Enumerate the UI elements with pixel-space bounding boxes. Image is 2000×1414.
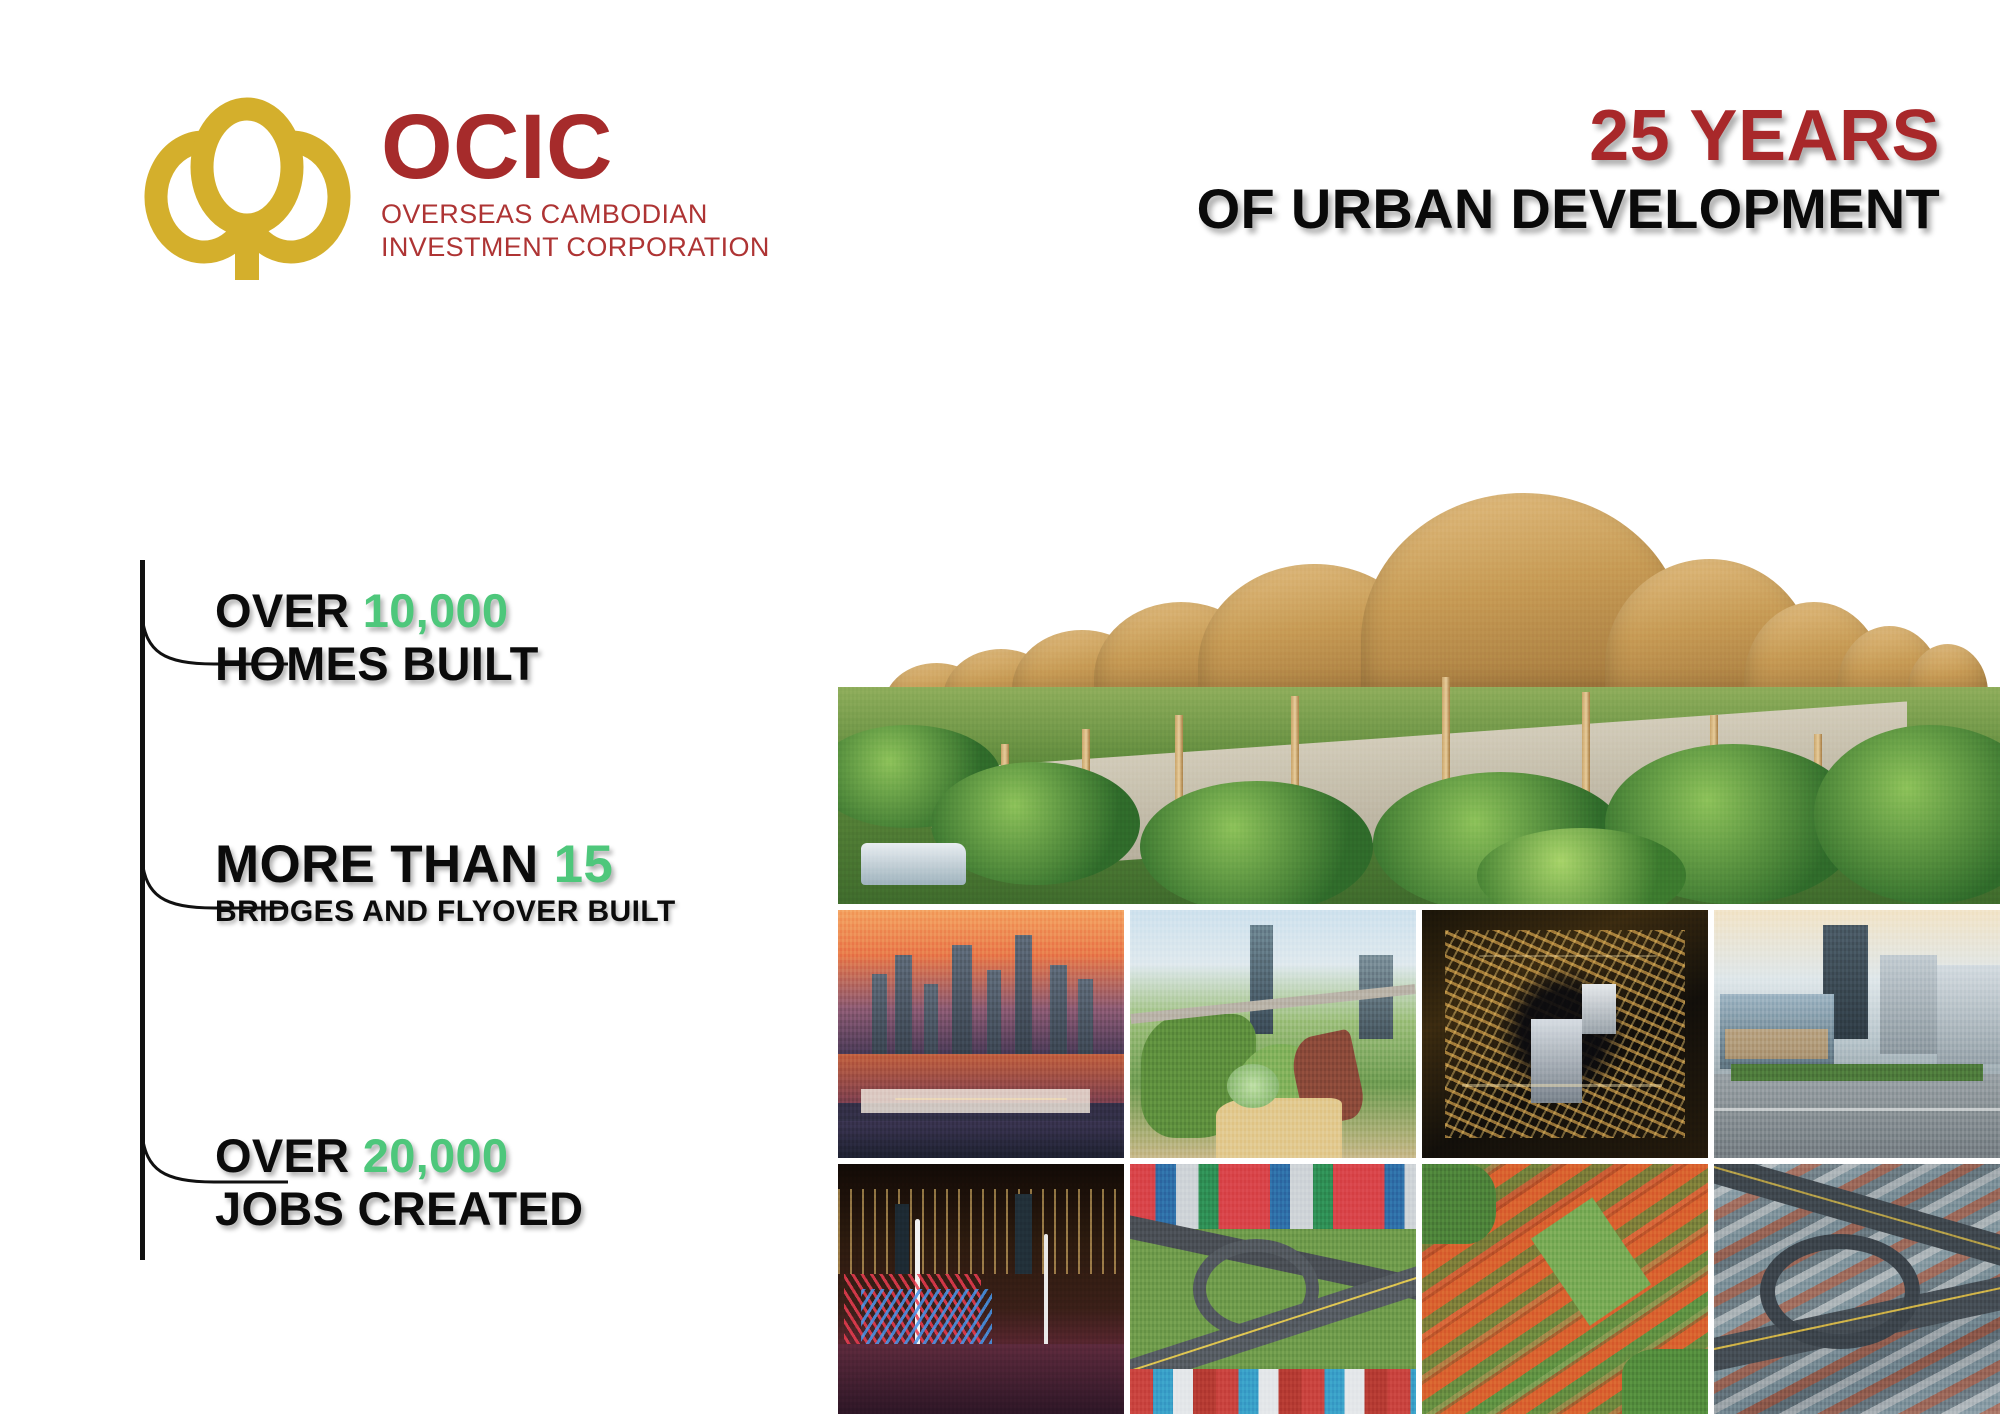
stat-bridges-number: 15 — [554, 835, 614, 894]
headline-years: 25 YEARS — [1197, 100, 1940, 172]
brand-lockup: OCIC OVERSEAS CAMBODIAN INVESTMENT CORPO… — [140, 95, 770, 280]
collage-row-middle — [838, 910, 2000, 1158]
statistics-panel: OVER 10,000 HOMES BUILT MORE THAN 15 BRI… — [0, 560, 840, 1270]
brand-wordmark: OCIC — [381, 105, 770, 190]
stat-homes-built: OVER 10,000 HOMES BUILT — [215, 585, 539, 690]
stat-bridges-line-1: MORE THAN 15 — [215, 835, 676, 894]
stat-homes-line-2: HOMES BUILT — [215, 638, 539, 691]
stat-jobs-number: 20,000 — [363, 1129, 509, 1182]
stat-bridges-built: MORE THAN 15 BRIDGES AND FLYOVER BUILT — [215, 835, 676, 930]
project-image-collage — [838, 432, 2000, 1414]
collage-tile-riverfront-city-skyline-sunset — [838, 910, 1124, 1158]
brand-text: OCIC OVERSEAS CAMBODIAN INVESTMENT CORPO… — [381, 95, 770, 264]
collage-tile-urban-flyover-aerial — [1714, 1164, 2000, 1414]
collage-tile-highway-interchange-aerial — [1130, 1164, 1416, 1414]
stat-bridges-caption: BRIDGES AND FLYOVER BUILT — [215, 894, 676, 930]
stat-jobs-prefix: OVER — [215, 1129, 349, 1182]
brand-subtitle: OVERSEAS CAMBODIAN INVESTMENT CORPORATIO… — [381, 198, 770, 264]
stat-jobs-line-1: OVER 20,000 — [215, 1130, 583, 1183]
collage-tile-housing-estate-rooftops-aerial — [1422, 1164, 1708, 1414]
brand-subtitle-line-2: INVESTMENT CORPORATION — [381, 231, 770, 264]
collage-tile-mixed-use-boulevard-dusk — [1714, 910, 2000, 1158]
stat-homes-number: 10,000 — [363, 584, 509, 637]
stat-jobs-line-2: JOBS CREATED — [215, 1183, 583, 1236]
collage-tile-downtown-aerial-night — [1422, 910, 1708, 1158]
stat-bridges-prefix: MORE THAN — [215, 835, 539, 894]
stat-jobs-created: OVER 20,000 JOBS CREATED — [215, 1130, 583, 1235]
ocic-tree-logo-icon — [140, 95, 355, 280]
collage-row-bottom — [838, 1164, 2000, 1414]
collage-tile-urban-park-aerial-day — [1130, 910, 1416, 1158]
headline-subtitle: OF URBAN DEVELOPMENT — [1197, 178, 1940, 241]
stat-homes-line-1: OVER 10,000 — [215, 585, 539, 638]
collage-tile-cable-stayed-bridge-night — [838, 1164, 1124, 1414]
stat-homes-prefix: OVER — [215, 584, 349, 637]
header: OCIC OVERSEAS CAMBODIAN INVESTMENT CORPO… — [0, 0, 2000, 300]
headline-block: 25 YEARS OF URBAN DEVELOPMENT — [1197, 100, 1940, 241]
collage-hero-image-airport-terminal-rendering — [838, 432, 2000, 904]
brand-subtitle-line-1: OVERSEAS CAMBODIAN — [381, 198, 770, 231]
